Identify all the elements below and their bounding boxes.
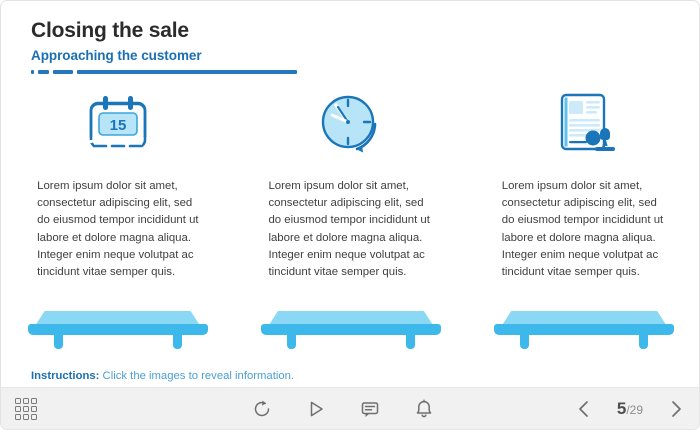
certificate-stamp-icon[interactable] xyxy=(468,86,700,166)
instructions-bar: Instructions: Click the images to reveal… xyxy=(31,370,294,382)
page-indicator: 5 /29 xyxy=(617,399,643,419)
shelf-leg-right xyxy=(406,334,415,349)
divider-dot xyxy=(31,70,34,74)
play-icon[interactable] xyxy=(306,399,326,419)
instructions-text: Click the images to reveal information. xyxy=(99,370,294,382)
column-body-text: Lorem ipsum dolor sit amet, consectetur … xyxy=(502,178,667,281)
content-column[interactable]: 15 Lorem ipsum dolor sit amet, consectet… xyxy=(1,86,234,281)
calendar-icon[interactable]: 15 xyxy=(1,86,234,166)
current-page-number: 5 xyxy=(617,399,626,419)
calendar-day-label: 15 xyxy=(109,117,126,134)
replay-icon[interactable] xyxy=(252,399,272,419)
divider-dash-short xyxy=(38,70,49,74)
clock-icon[interactable] xyxy=(234,86,467,166)
content-columns: 15 Lorem ipsum dolor sit amet, consectet… xyxy=(1,86,700,281)
player-toolbar: 5 /29 xyxy=(1,387,700,429)
shelf-leg-left xyxy=(54,334,63,349)
chevron-left-icon[interactable] xyxy=(575,399,593,419)
chevron-right-icon[interactable] xyxy=(667,399,685,419)
column-body-text: Lorem ipsum dolor sit amet, consectetur … xyxy=(268,178,433,281)
comment-icon[interactable] xyxy=(360,399,380,419)
playback-controls xyxy=(252,399,434,419)
shelf-leg-right xyxy=(173,334,182,349)
page-title: Closing the sale xyxy=(31,19,297,43)
bell-icon[interactable] xyxy=(414,399,434,419)
column-body-text: Lorem ipsum dolor sit amet, consectetur … xyxy=(37,178,202,281)
shelf-top-surface xyxy=(502,311,666,325)
slide-frame: Closing the sale Approaching the custome… xyxy=(0,0,700,430)
shelf-leg-left xyxy=(520,334,529,349)
page-subtitle: Approaching the customer xyxy=(31,48,297,63)
shelf-top-surface xyxy=(36,311,200,325)
divider-dash-medium xyxy=(53,70,73,74)
shelf-leg-left xyxy=(287,334,296,349)
instructions-label: Instructions: xyxy=(31,370,99,382)
shelf xyxy=(1,311,234,351)
divider-line xyxy=(77,70,297,74)
shelf-leg-right xyxy=(639,334,648,349)
grid-menu-icon[interactable] xyxy=(15,398,37,420)
shelf-top-surface xyxy=(269,311,433,325)
content-column[interactable]: Lorem ipsum dolor sit amet, consectetur … xyxy=(234,86,467,281)
title-divider xyxy=(31,70,297,74)
shelf xyxy=(234,311,467,351)
slide-header: Closing the sale Approaching the custome… xyxy=(31,19,297,74)
shelf xyxy=(468,311,700,351)
total-pages-label: /29 xyxy=(626,403,643,417)
content-column[interactable]: Lorem ipsum dolor sit amet, consectetur … xyxy=(468,86,700,281)
page-navigation: 5 /29 xyxy=(575,399,685,419)
